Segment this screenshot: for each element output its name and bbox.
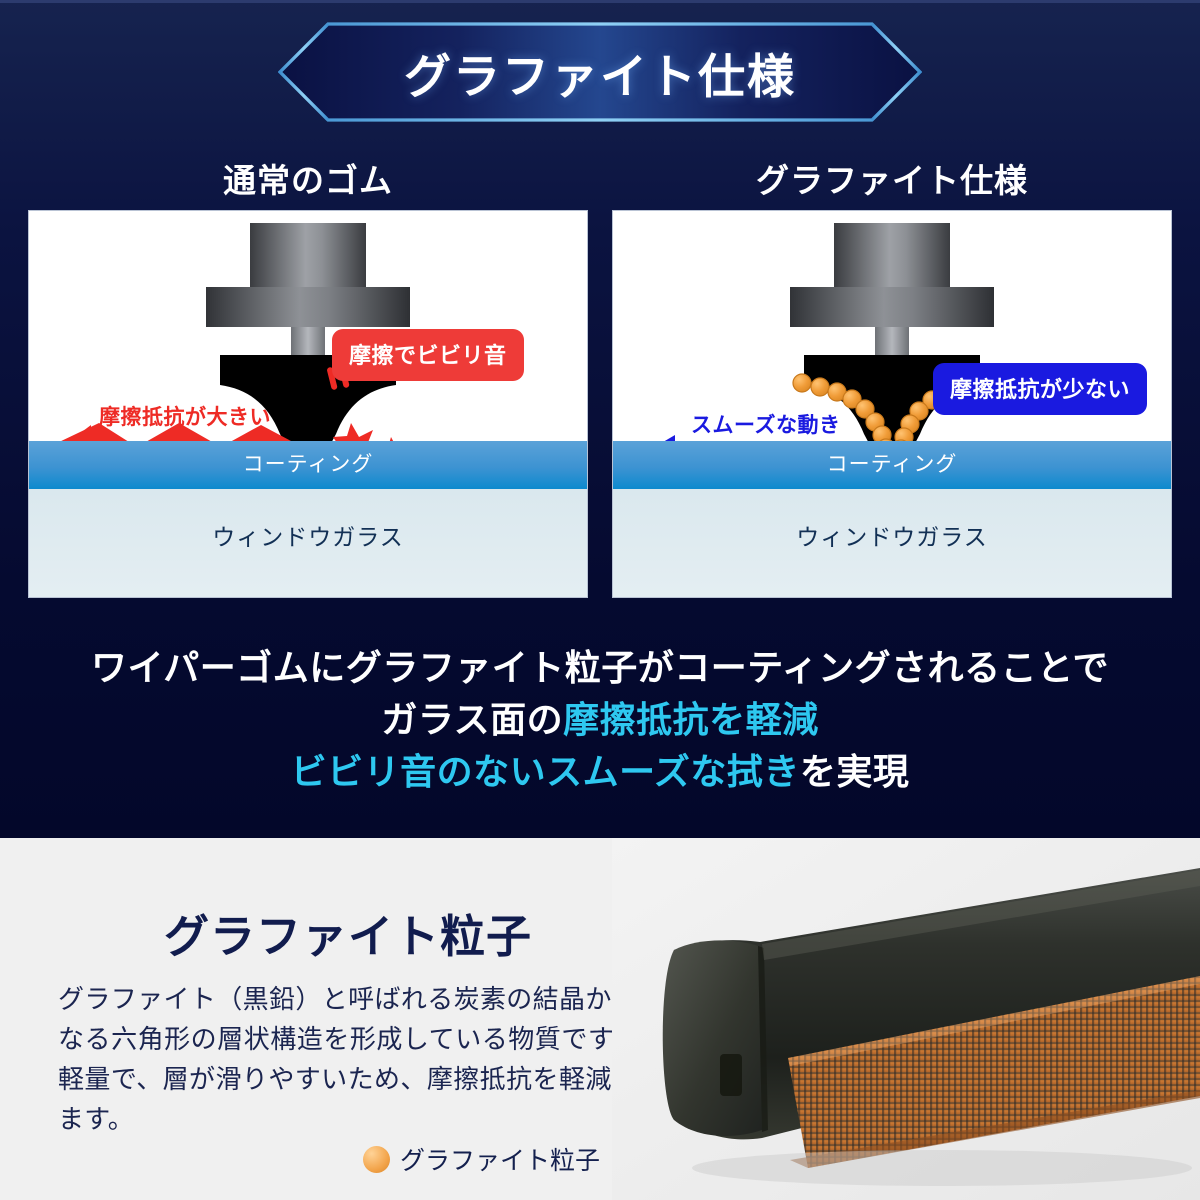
layer-coating-right: コーティング xyxy=(613,441,1171,489)
layer-coating-left: コーティング xyxy=(29,441,587,489)
arrow-caption-smooth-motion: スムーズな動き xyxy=(691,409,840,439)
caption-line-2-highlight: 摩擦抵抗を軽減 xyxy=(563,699,819,740)
infographic-page: グラファイト仕様 通常のゴム xyxy=(0,0,1200,1200)
panel-diagram-graphite: スムーズな動き 摩擦抵抗が少ない グラファイト粒子 コーティング ウィンドウガラ… xyxy=(612,210,1172,598)
caption-line-3-plain: を実現 xyxy=(800,751,910,792)
panel-title-graphite: グラファイト仕様 xyxy=(612,152,1172,210)
bottom-section: グラファイト粒子 グラファイト（黒鉛）と呼ばれる炭素の結晶からなる六角形の層状構… xyxy=(0,838,1200,1200)
top-section: グラファイト仕様 通常のゴム xyxy=(0,0,1200,838)
panel-title-normal: 通常のゴム xyxy=(28,152,588,210)
photo-legend: グラファイト粒子 xyxy=(363,1141,600,1177)
caption-line-2: ガラス面の摩擦抵抗を軽減 xyxy=(0,694,1200,746)
wiper-blade-photo xyxy=(612,838,1200,1200)
banner-title: グラファイト仕様 xyxy=(278,22,922,122)
layer-glass-left: ウィンドウガラス xyxy=(29,489,587,597)
compare-panel-graphite: グラファイト仕様 xyxy=(612,152,1172,598)
top-hairline xyxy=(0,0,1200,3)
bottom-heading: グラファイト粒子 xyxy=(58,900,638,965)
arrow-caption-friction-large: 摩擦抵抗が大きい xyxy=(99,401,271,431)
title-banner: グラファイト仕様 xyxy=(278,22,922,122)
summary-caption: ワイパーゴムにグラファイト粒子がコーティングされることで ガラス面の摩擦抵抗を軽… xyxy=(0,642,1200,798)
caption-line-2-plain: ガラス面の xyxy=(381,699,563,740)
caption-line-1: ワイパーゴムにグラファイト粒子がコーティングされることで xyxy=(0,642,1200,694)
caption-line-3-highlight: ビビリ音のないスムーズな拭き xyxy=(291,751,800,792)
layer-glass-right: ウィンドウガラス xyxy=(613,489,1171,597)
graphite-particle-dot-large-icon xyxy=(363,1146,390,1173)
badge-chatter-noise: 摩擦でビビリ音 xyxy=(332,329,524,381)
photo-legend-label: グラファイト粒子 xyxy=(400,1141,600,1177)
caption-line-3: ビビリ音のないスムーズな拭きを実現 xyxy=(0,746,1200,798)
compare-panel-normal-rubber: 通常のゴム xyxy=(28,152,588,598)
panel-diagram-normal: 摩擦抵抗が大きい 摩擦でビビリ音 コーティング ウィンドウガラス xyxy=(28,210,588,598)
bottom-paragraph: グラファイト（黒鉛）と呼ばれる炭素の結晶からなる六角形の層状構造を形成している物… xyxy=(58,979,638,1139)
badge-low-friction: 摩擦抵抗が少ない xyxy=(933,363,1147,415)
graphite-description-block: グラファイト粒子 グラファイト（黒鉛）と呼ばれる炭素の結晶からなる六角形の層状構… xyxy=(58,900,638,1139)
